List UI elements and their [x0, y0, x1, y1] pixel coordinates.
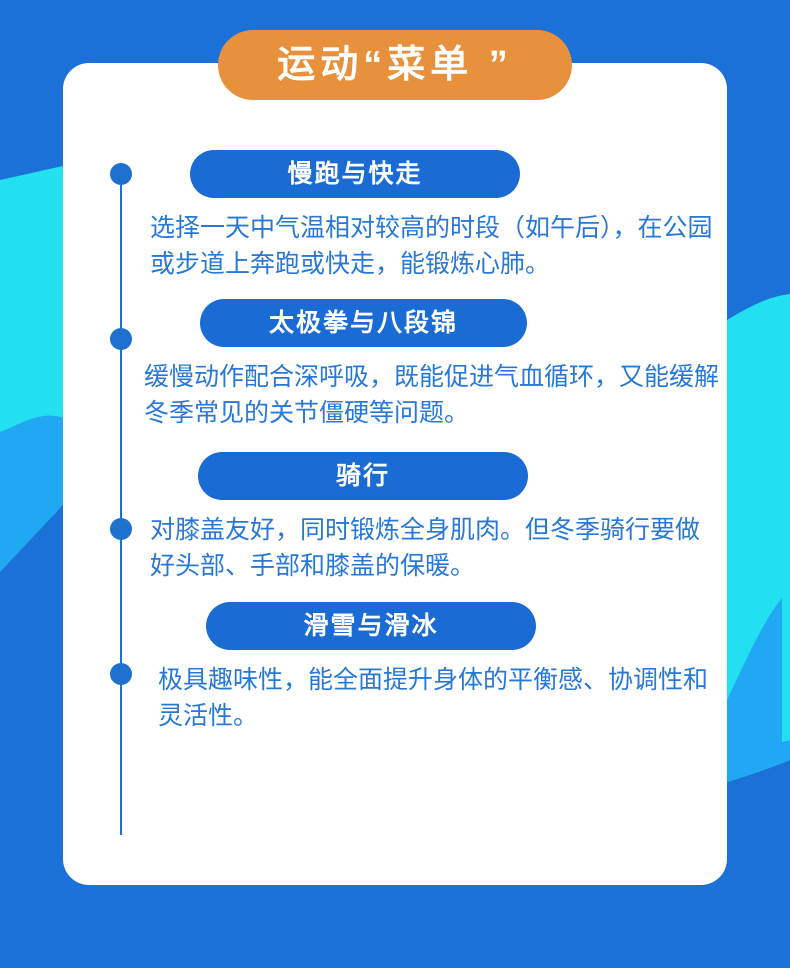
exercise-body-1: 选择一天中气温相对较高的时段（如午后），在公园或步道上奔跑或快走，能锻炼心肺。: [150, 211, 720, 282]
list-item: 骑行 对膝盖友好，同时锻炼全身肌肉。但冬季骑行要做好头部、手部和膝盖的保暖。: [140, 452, 720, 584]
exercise-label-4: 滑雪与滑冰: [303, 614, 438, 639]
timeline-rail: [120, 169, 122, 835]
timeline-dot-1: [110, 163, 132, 185]
timeline-dot-2: [110, 328, 132, 350]
exercise-pill-2[interactable]: 太极拳与八段锦: [200, 299, 527, 347]
exercise-body-2: 缓慢动作配合深呼吸，既能促进气血循环，又能缓解冬季常见的关节僵硬等问题。: [144, 360, 720, 431]
timeline-dot-4: [110, 663, 132, 685]
list-item: 太极拳与八段锦 缓慢动作配合深呼吸，既能促进气血循环，又能缓解冬季常见的关节僵硬…: [140, 299, 720, 431]
exercise-label-2: 太极拳与八段锦: [269, 311, 458, 336]
exercise-body-4: 极具趣味性，能全面提升身体的平衡感、协调性和灵活性。: [158, 663, 720, 734]
exercise-pill-1[interactable]: 慢跑与快走: [190, 150, 520, 198]
poster-title-pill: 运动“菜单 ”: [218, 30, 572, 100]
timeline-dot-3: [110, 518, 132, 540]
exercise-body-3: 对膝盖友好，同时锻炼全身肌肉。但冬季骑行要做好头部、手部和膝盖的保暖。: [150, 513, 720, 584]
page-title: 运动“菜单 ”: [277, 46, 513, 84]
timeline: [110, 155, 132, 835]
list-item: 滑雪与滑冰 极具趣味性，能全面提升身体的平衡感、协调性和灵活性。: [140, 602, 720, 734]
exercise-list: 慢跑与快走 选择一天中气温相对较高的时段（如午后），在公园或步道上奔跑或快走，能…: [140, 150, 720, 734]
exercise-label-3: 骑行: [336, 464, 390, 489]
exercise-pill-3[interactable]: 骑行: [198, 452, 528, 500]
list-item: 慢跑与快走 选择一天中气温相对较高的时段（如午后），在公园或步道上奔跑或快走，能…: [140, 150, 720, 282]
poster-root: 运动“菜单 ” 慢跑与快走 选择一天中气温相对较高的时段（如午后），在公园或步道…: [0, 0, 790, 968]
exercise-pill-4[interactable]: 滑雪与滑冰: [206, 602, 536, 650]
exercise-label-1: 慢跑与快走: [287, 162, 422, 187]
